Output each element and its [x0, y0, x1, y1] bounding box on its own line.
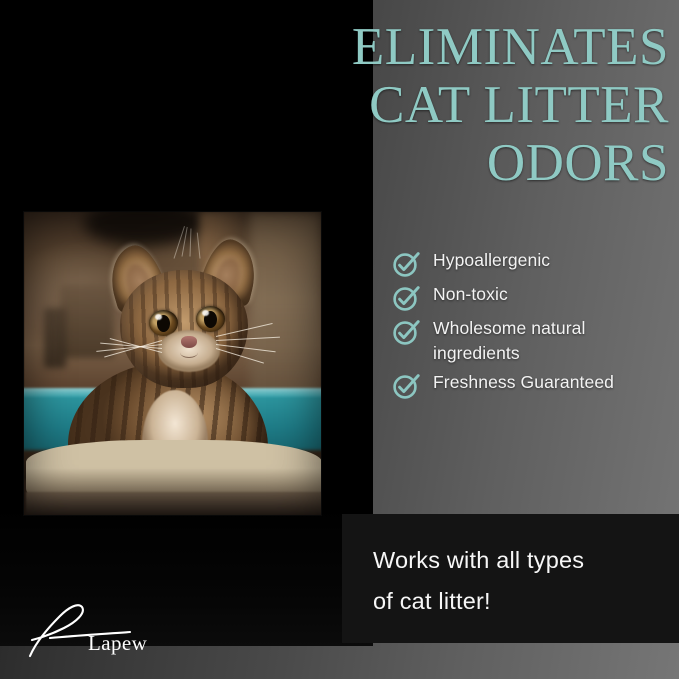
logo-wordmark: Lapew: [88, 631, 147, 656]
callout-box: Works with all types of cat litter!: [342, 514, 679, 643]
checklist-item-label: Freshness Guaranteed: [433, 370, 614, 395]
photo-furniture-blur: [60, 284, 114, 358]
check-circle-icon: [392, 371, 421, 400]
headline-line-1: ELIMINATES: [0, 18, 669, 76]
photo-kitten-mouth: [180, 347, 198, 358]
callout-text: Works with all types of cat litter!: [373, 540, 663, 622]
callout-line-1: Works with all types: [373, 540, 663, 581]
checklist-item: Freshness Guaranteed: [392, 370, 672, 400]
headline-line-3: ODORS: [0, 134, 669, 192]
checklist-item: Non-toxic: [392, 282, 672, 312]
headline-line-2: CAT LITTER: [0, 76, 669, 134]
page-title: ELIMINATES CAT LITTER ODORS: [0, 18, 679, 192]
callout-line-2: of cat litter!: [373, 581, 663, 622]
check-circle-icon: [392, 283, 421, 312]
brand-logo: Lapew: [26, 598, 166, 660]
check-circle-icon: [392, 317, 421, 346]
checklist-item-label: Wholesome natural ingredients: [433, 316, 672, 366]
checklist-item: Hypoallergenic: [392, 248, 672, 278]
photo-tray-base: [26, 492, 321, 515]
check-circle-icon: [392, 249, 421, 278]
kitten-photo: [24, 212, 321, 515]
photo-furniture-blur-2: [44, 308, 66, 368]
product-poster: ELIMINATES CAT LITTER ODORS: [0, 0, 679, 679]
photo-kitten-eye-right: [196, 306, 225, 332]
checklist-item-label: Non-toxic: [433, 282, 508, 307]
checklist-item: Wholesome natural ingredients: [392, 316, 672, 366]
checklist-item-label: Hypoallergenic: [433, 248, 550, 273]
benefits-checklist: HypoallergenicNon-toxicWholesome natural…: [392, 248, 672, 404]
